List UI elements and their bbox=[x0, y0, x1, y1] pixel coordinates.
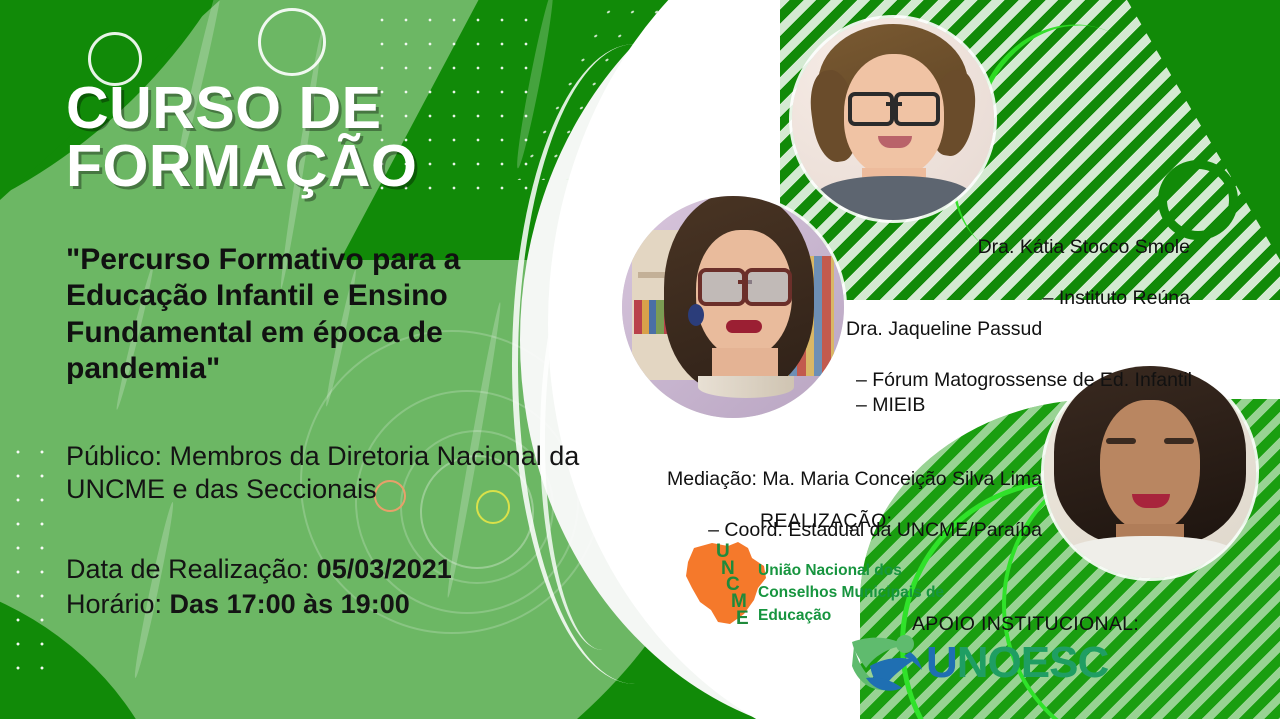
poster-canvas: CURSO DEFORMAÇÃO "Percurso Formativo par… bbox=[0, 0, 1280, 719]
uncme-acronym: U N C M E bbox=[716, 544, 749, 628]
realizacao-label: REALIZAÇÃO: bbox=[760, 510, 892, 533]
uncme-letter-e: E bbox=[736, 611, 749, 628]
speaker-photo-katia bbox=[792, 18, 994, 220]
speaker-name-katia: Dra. Kátia Stocco Smole bbox=[960, 235, 1190, 260]
speaker-affiliation-jaqueline: – Fórum Matogrossense de Ed. Infantil – … bbox=[846, 368, 1196, 419]
unoesc-wordmark: UNOESC bbox=[926, 638, 1108, 688]
unoesc-swoosh-icon bbox=[848, 632, 936, 698]
mediator-name: Mediação: Ma. Maria Conceição Silva Lima bbox=[652, 467, 1042, 492]
speaker-caption-jaqueline: Dra. Jaqueline Passud – Fórum Matogrosse… bbox=[846, 292, 1196, 444]
unoesc-text-prefix: U bbox=[926, 638, 957, 687]
unoesc-text-rest: NOESC bbox=[957, 638, 1108, 687]
speaker-photo-jaqueline bbox=[622, 196, 844, 418]
uncme-line1: União Nacional dos bbox=[758, 560, 1018, 582]
right-content-column: Dra. Kátia Stocco Smole – Instituto Reún… bbox=[0, 0, 1280, 719]
speaker-name-jaqueline: Dra. Jaqueline Passud bbox=[846, 317, 1196, 342]
unoesc-logo: UNOESC bbox=[848, 632, 1088, 702]
